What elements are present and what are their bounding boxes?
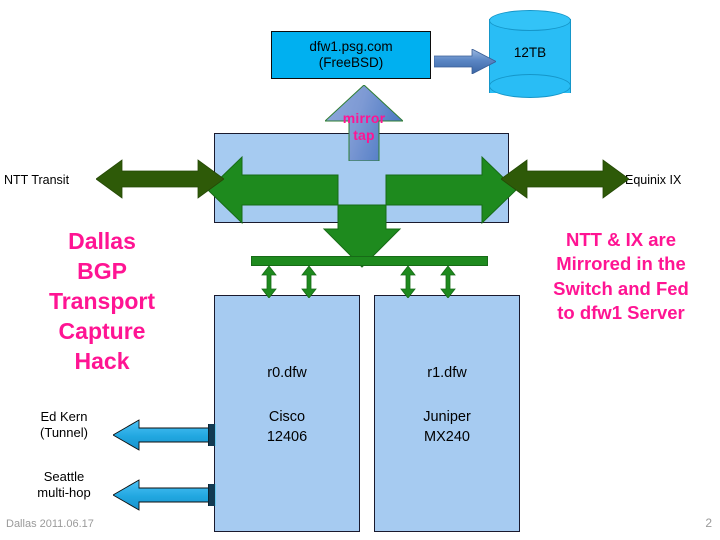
ed-kern-tunnel-label: Ed Kern (Tunnel) — [18, 409, 110, 440]
seattle-multihop-arrow-icon — [113, 479, 209, 511]
ed-kern-line2: (Tunnel) — [18, 425, 110, 441]
seattle-multihop-label: Seattle multi-hop — [18, 469, 110, 500]
footer-date: Dallas 2011.06.17 — [6, 518, 206, 530]
mirror-tap-label: mirror tap — [325, 105, 403, 149]
left-headline: Dallas BGP Transport Capture Hack — [4, 227, 200, 376]
cylinder-bottom-icon — [489, 74, 571, 98]
router0-name-label: r0.dfw — [267, 366, 307, 382]
left-headline-line-3: Capture — [4, 317, 200, 347]
right-headline-line-1: Mirrored in the — [523, 252, 719, 276]
storage-cylinder: 12TB — [489, 10, 571, 102]
router1-uplink-arrow-2-icon — [440, 266, 456, 298]
server-os-label: (FreeBSD) — [309, 55, 392, 71]
page-number: 2 — [684, 516, 712, 530]
router0-model-label: 12406 — [267, 430, 307, 446]
router0-vendor-label: Cisco — [269, 410, 305, 426]
ed-kern-line1: Ed Kern — [18, 409, 110, 425]
right-headline-line-2: Switch and Fed — [523, 277, 719, 301]
equinix-ix-link-arrow-icon — [501, 158, 629, 200]
right-headline: NTT & IX are Mirrored in the Switch and … — [523, 228, 719, 326]
router1-uplink-arrow-1-icon — [400, 266, 416, 298]
seattle-line2: multi-hop — [18, 485, 110, 501]
left-headline-line-1: BGP — [4, 257, 200, 287]
server-hostname-label: dfw1.psg.com — [309, 39, 392, 55]
seattle-line1: Seattle — [18, 469, 110, 485]
ed-kern-tunnel-arrow-icon — [113, 419, 209, 451]
switch-downlink-bus-bar — [251, 256, 488, 266]
right-headline-line-0: NTT & IX are — [523, 228, 719, 252]
mirror-tap-line2: tap — [343, 127, 385, 144]
router0-port-notch-2 — [208, 484, 216, 506]
ntt-transit-label: NTT Transit — [4, 170, 96, 190]
cylinder-top-icon — [489, 10, 571, 31]
router0-uplink-arrow-1-icon — [261, 266, 277, 298]
router-box-r0[interactable]: r0.dfw Cisco 12406 — [214, 295, 360, 532]
equinix-ix-label: Equinix IX — [625, 170, 720, 190]
router-box-r1[interactable]: r1.dfw Juniper MX240 — [374, 295, 520, 532]
server-to-storage-arrow-icon — [434, 49, 496, 74]
router1-vendor-label: Juniper — [423, 410, 471, 426]
left-headline-line-0: Dallas — [4, 227, 200, 257]
router0-port-notch-1 — [208, 424, 216, 446]
server-box-dfw1[interactable]: dfw1.psg.com (FreeBSD) — [271, 31, 431, 79]
router1-name-label: r1.dfw — [427, 366, 467, 382]
left-headline-line-4: Hack — [4, 347, 200, 377]
right-headline-line-3: to dfw1 Server — [523, 301, 719, 325]
left-headline-line-2: Transport — [4, 287, 200, 317]
mirror-tap-line1: mirror — [343, 110, 385, 127]
slide-canvas: 12TB dfw1.psg.com (FreeBSD) — [0, 0, 720, 540]
router1-model-label: MX240 — [424, 430, 470, 446]
ntt-transit-link-arrow-icon — [96, 158, 224, 200]
router0-uplink-arrow-2-icon — [301, 266, 317, 298]
storage-capacity-label: 12TB — [489, 42, 571, 64]
